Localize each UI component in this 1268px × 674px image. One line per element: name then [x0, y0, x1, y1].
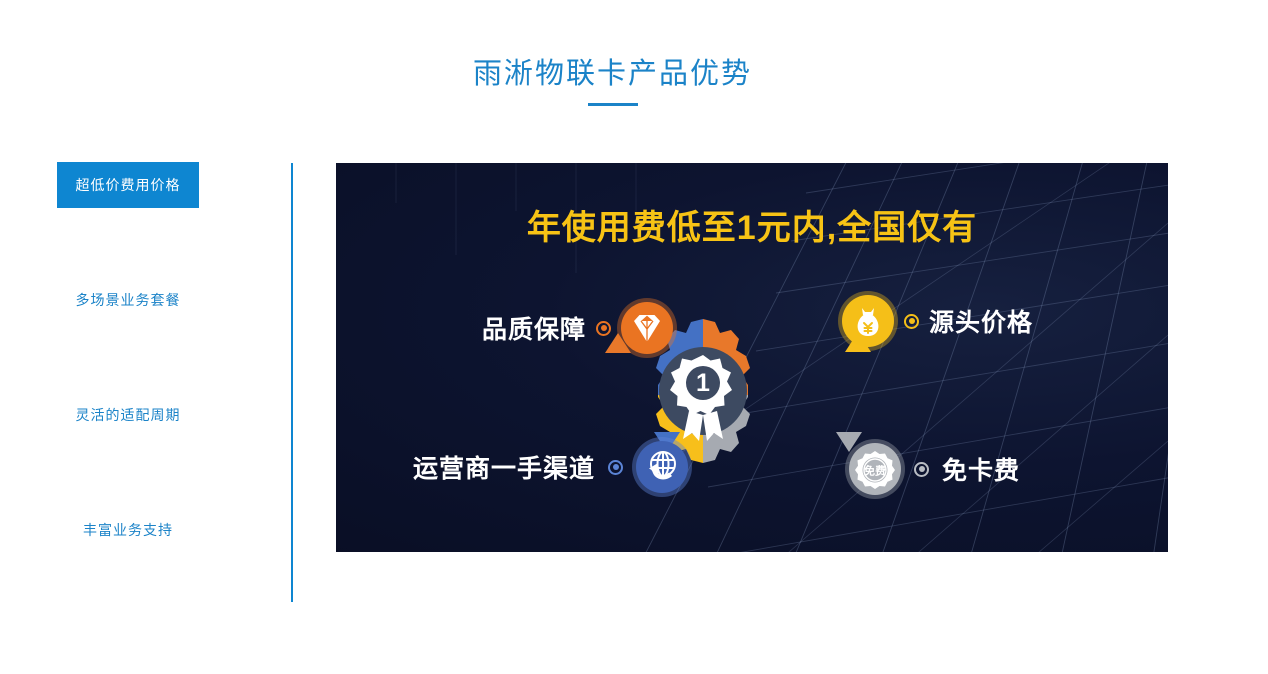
feature-free-card-fee[interactable]: 免费 免卡费: [849, 443, 1020, 495]
feature-source-price[interactable]: 源头价格: [842, 295, 1033, 347]
gear-badge-number: 1: [696, 369, 710, 397]
sidebar-item-rich-support[interactable]: 丰富业务支持: [57, 507, 199, 553]
bullet-dot-gray-icon: [914, 462, 929, 477]
bullet-dot-blue-icon: [608, 460, 623, 475]
feature-quality-assurance[interactable]: 品质保障: [482, 302, 673, 354]
bullet-dot-orange-icon: [596, 321, 611, 336]
feature-label-source-price: 源头价格: [929, 303, 1033, 339]
sidebar-item-low-price[interactable]: 超低价费用价格: [57, 162, 199, 208]
sidebar-item-multi-scene-package[interactable]: 多场景业务套餐: [57, 277, 199, 323]
title-underline-accent: [588, 103, 638, 106]
feature-label-operator-channel: 运营商一手渠道: [413, 449, 595, 485]
feature-operator-channel[interactable]: 运营商一手渠道: [413, 441, 688, 493]
sidebar-item-flexible-cycle[interactable]: 灵活的适配周期: [57, 392, 199, 438]
free-badge-icon: 免费: [849, 443, 901, 495]
feature-tab-rail: 超低价费用价格 多场景业务套餐 灵活的适配周期 丰富业务支持: [57, 162, 199, 602]
feature-label-quality: 品质保障: [482, 310, 586, 346]
page-title-block: 雨淅物联卡产品优势: [0, 54, 1225, 106]
free-badge-text: 免费: [864, 464, 886, 478]
rail-vertical-divider: [291, 163, 293, 602]
page-title: 雨淅物联卡产品优势: [0, 54, 1225, 94]
money-bag-icon: [842, 295, 894, 347]
bullet-dot-gold-icon: [904, 314, 919, 329]
diamond-icon: [621, 302, 673, 354]
feature-banner: 年使用费低至1元内,全国仅有 1: [336, 163, 1168, 552]
globe-network-icon: [636, 441, 688, 493]
banner-headline: 年使用费低至1元内,全国仅有: [336, 200, 1168, 249]
feature-label-free-card-fee: 免卡费: [942, 451, 1020, 487]
